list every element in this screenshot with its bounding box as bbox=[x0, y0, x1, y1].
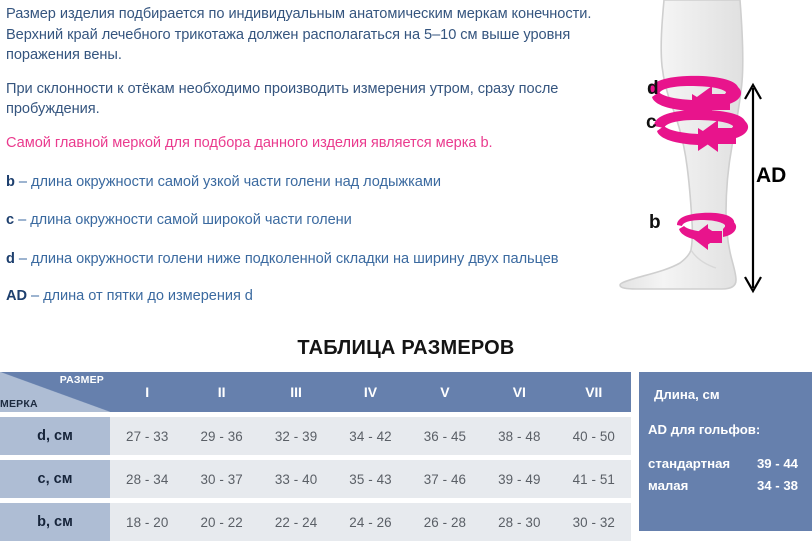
length-row-small: малая 34 - 38 bbox=[648, 478, 806, 496]
cell-d-2: 29 - 36 bbox=[184, 417, 258, 455]
diagram-label-b: b bbox=[649, 212, 661, 234]
leg-measurement-diagram: d c b AD bbox=[592, 0, 812, 330]
length-row-standard: стандартная 39 - 44 bbox=[648, 456, 806, 474]
definition-c: c – длина окружности самой широкой части… bbox=[6, 210, 592, 231]
cell-b-3: 22 - 24 bbox=[259, 503, 333, 541]
definition-d-dash: – bbox=[19, 251, 27, 267]
cell-c-3: 33 - 40 bbox=[259, 460, 333, 498]
length-row-small-name: малая bbox=[648, 478, 688, 493]
instructions-text-block: Размер изделия подбирается по индивидуал… bbox=[6, 4, 592, 325]
cell-c-5: 37 - 46 bbox=[408, 460, 482, 498]
diagram-label-d: d bbox=[647, 78, 659, 100]
definition-b: b – длина окружности самой узкой части г… bbox=[6, 172, 592, 193]
length-info-panel: Длина, см AD для гольфов: стандартная 39… bbox=[639, 372, 812, 531]
definition-b-dash: – bbox=[19, 174, 27, 190]
table-row: d, см 27 - 33 29 - 36 32 - 39 34 - 42 36… bbox=[0, 417, 631, 455]
column-header-4: IV bbox=[333, 372, 407, 412]
column-header-3: III bbox=[259, 372, 333, 412]
definition-ad-text: длина от пятки до измерения d bbox=[43, 288, 253, 304]
length-row-standard-value: 39 - 44 bbox=[757, 456, 798, 471]
cell-b-1: 18 - 20 bbox=[110, 503, 184, 541]
row-label-b: b, см bbox=[0, 503, 110, 541]
cell-d-6: 38 - 48 bbox=[482, 417, 556, 455]
cell-d-3: 32 - 39 bbox=[259, 417, 333, 455]
row-label-d: d, см bbox=[0, 417, 110, 455]
length-panel-subtitle: AD для гольфов: bbox=[648, 422, 760, 437]
corner-measure-label: МЕРКА bbox=[0, 398, 38, 410]
table-row: c, см 28 - 34 30 - 37 33 - 40 35 - 43 37… bbox=[0, 460, 631, 498]
table-header-row: РАЗМЕР МЕРКА I II III IV V VI VII bbox=[0, 372, 631, 412]
intro-paragraph-1: Размер изделия подбирается по индивидуал… bbox=[6, 4, 592, 66]
definition-ad-key: AD bbox=[6, 288, 27, 304]
cell-d-1: 27 - 33 bbox=[110, 417, 184, 455]
page-title: ТАБЛИЦА РАЗМЕРОВ bbox=[0, 337, 812, 360]
definition-d: d – длина окружности голени ниже подколе… bbox=[6, 249, 592, 270]
ad-length-arrow bbox=[745, 85, 761, 291]
length-row-standard-name: стандартная bbox=[648, 456, 730, 471]
cell-d-7: 40 - 50 bbox=[557, 417, 631, 455]
cell-b-5: 26 - 28 bbox=[408, 503, 482, 541]
definition-ad-dash: – bbox=[31, 288, 39, 304]
cell-b-2: 20 - 22 bbox=[184, 503, 258, 541]
measurement-band-c-arrow bbox=[654, 110, 748, 152]
diagram-label-ad: AD bbox=[756, 164, 786, 188]
corner-size-label: РАЗМЕР bbox=[60, 374, 104, 386]
row-label-c: c, см bbox=[0, 460, 110, 498]
column-header-1: I bbox=[110, 372, 184, 412]
cell-c-4: 35 - 43 bbox=[333, 460, 407, 498]
cell-c-2: 30 - 37 bbox=[184, 460, 258, 498]
definition-d-text: длина окружности голени ниже подколенной… bbox=[31, 251, 559, 267]
size-chart-table: РАЗМЕР МЕРКА I II III IV V VI VII d, см … bbox=[0, 372, 631, 541]
definition-b-key: b bbox=[6, 174, 15, 190]
length-panel-title: Длина, см bbox=[654, 387, 720, 402]
definition-b-text: длина окружности самой узкой части голен… bbox=[31, 174, 441, 190]
cell-b-4: 24 - 26 bbox=[333, 503, 407, 541]
diagram-label-c: c bbox=[646, 112, 657, 134]
definition-d-key: d bbox=[6, 251, 15, 267]
definition-c-dash: – bbox=[18, 212, 26, 228]
cell-c-6: 39 - 49 bbox=[482, 460, 556, 498]
cell-d-5: 36 - 45 bbox=[408, 417, 482, 455]
cell-c-1: 28 - 34 bbox=[110, 460, 184, 498]
cell-c-7: 41 - 51 bbox=[557, 460, 631, 498]
table-corner-header: РАЗМЕР МЕРКА bbox=[0, 372, 110, 412]
intro-paragraph-2: При склонности к отёкам необходимо произ… bbox=[6, 79, 592, 120]
cell-d-4: 34 - 42 bbox=[333, 417, 407, 455]
definition-c-key: c bbox=[6, 212, 14, 228]
definition-ad: AD – длина от пятки до измерения d bbox=[6, 286, 592, 307]
column-header-6: VI bbox=[482, 372, 556, 412]
definition-c-text: длина окружности самой широкой части гол… bbox=[30, 212, 352, 228]
column-header-2: II bbox=[184, 372, 258, 412]
highlight-note: Самой главной меркой для подбора данного… bbox=[6, 133, 592, 154]
leg-silhouette bbox=[620, 0, 743, 289]
column-header-5: V bbox=[408, 372, 482, 412]
length-row-small-value: 34 - 38 bbox=[757, 478, 798, 493]
column-header-7: VII bbox=[557, 372, 631, 412]
cell-b-7: 30 - 32 bbox=[557, 503, 631, 541]
cell-b-6: 28 - 30 bbox=[482, 503, 556, 541]
table-row: b, см 18 - 20 20 - 22 22 - 24 24 - 26 26… bbox=[0, 503, 631, 541]
